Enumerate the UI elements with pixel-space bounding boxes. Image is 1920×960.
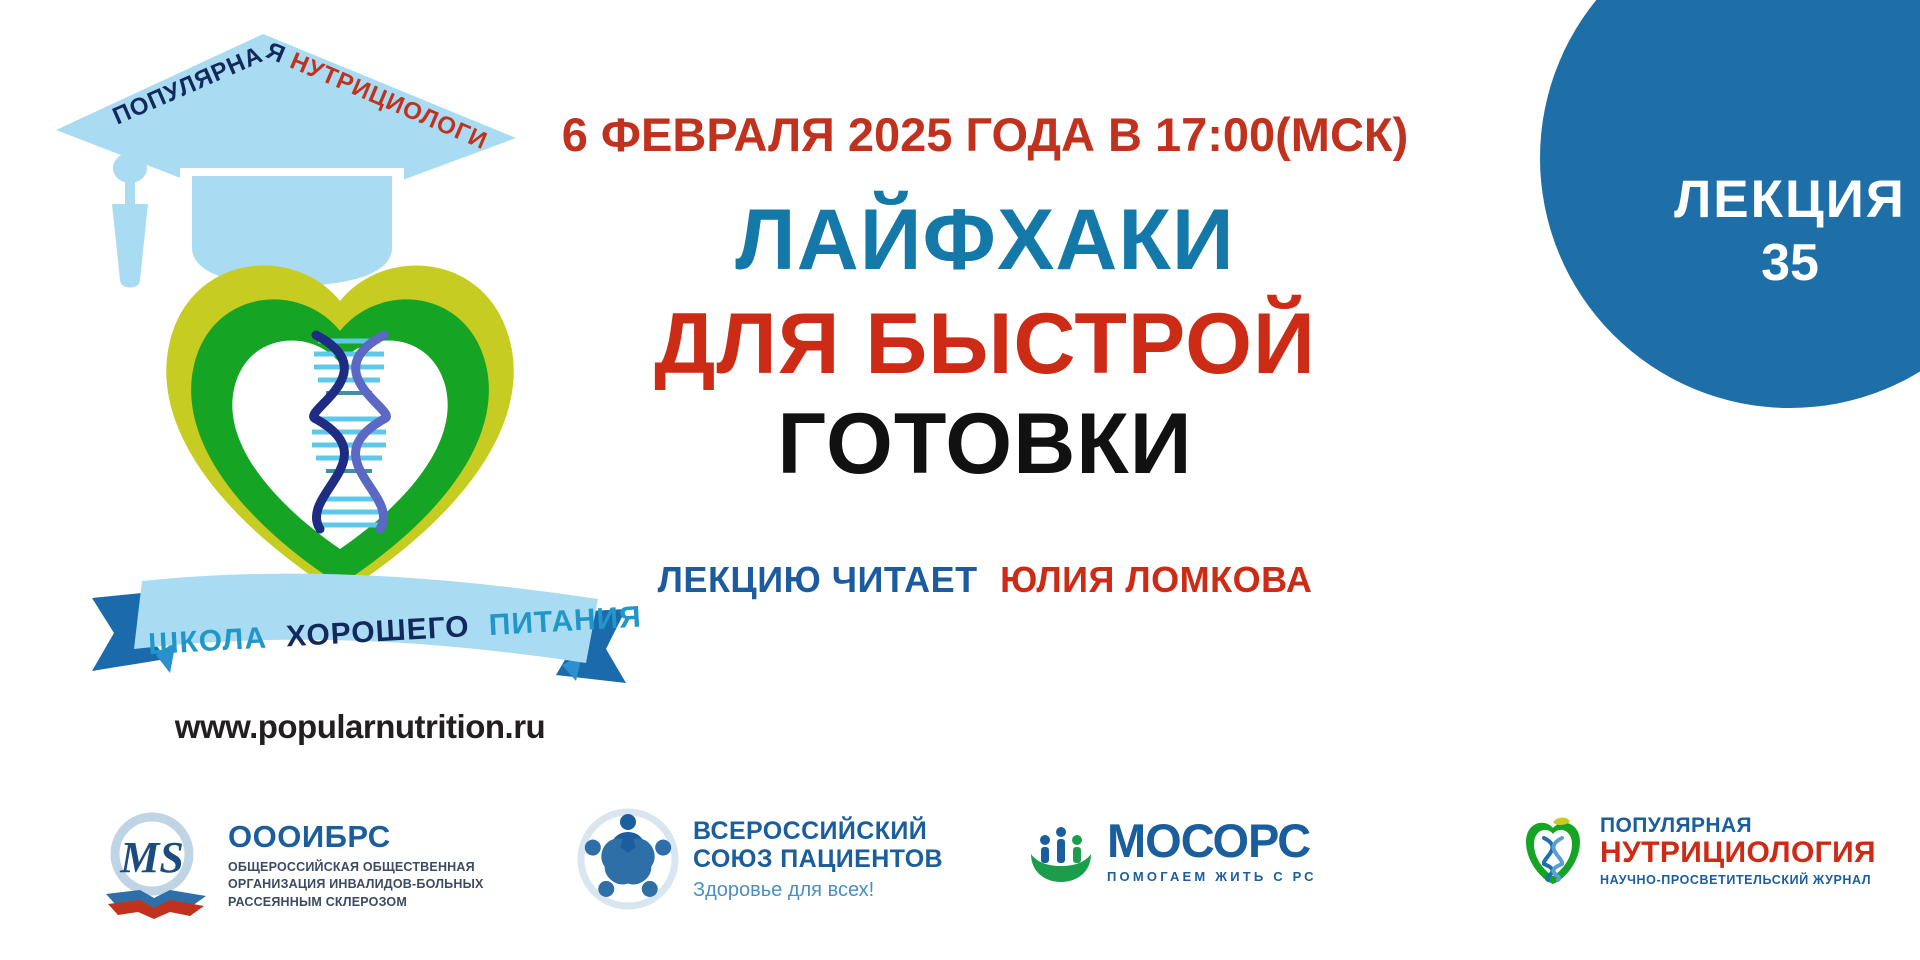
- partner-tagline: НАУЧНО-ПРОСВЕТИТЕЛЬСКИЙ ЖУРНАЛ: [1600, 873, 1876, 887]
- partner-name: МОСОРС: [1107, 817, 1317, 864]
- partner-logo-mosors: МОСОРС ПОМОГАЕМ ЖИТЬ С РС: [1025, 814, 1317, 886]
- speaker-line: ЛЕКЦИЮ ЧИТАЕТ ЮЛИЯ ЛОМКОВА: [480, 559, 1490, 601]
- partner-tagline: ПОМОГАЕМ ЖИТЬ С РС: [1107, 869, 1317, 884]
- partner-name-line-2: НУТРИЦИОЛОГИЯ: [1600, 837, 1876, 869]
- website-url[interactable]: www.popularnutrition.ru: [80, 708, 640, 746]
- people-circle-icon: [575, 806, 681, 912]
- ribbon-word-1: ШКОЛА: [147, 622, 267, 662]
- partner-name-line-2: СОЮЗ ПАЦИЕНТОВ: [693, 845, 943, 873]
- ms-emblem-icon: MS: [96, 810, 214, 922]
- hands-people-icon: [1025, 814, 1097, 886]
- partner-logo-oooibrs: MS ОООИБРС ОБЩЕРОССИЙСКАЯ ОБЩЕСТВЕННАЯ О…: [96, 810, 484, 922]
- partner-subtitle-line-3: РАССЕЯННЫМ СКЛЕРОЗОМ: [228, 894, 484, 911]
- title-line-3: ГОТОВКИ: [480, 401, 1490, 487]
- partner-tagline: Здоровье для всех!: [693, 879, 943, 902]
- partner-name-line-1: ВСЕРОССИЙСКИЙ: [693, 817, 943, 845]
- partner-logo-vsp: ВСЕРОССИЙСКИЙ СОЮЗ ПАЦИЕНТОВ Здоровье дл…: [575, 806, 943, 912]
- lecture-badge-label: ЛЕКЦИЯ: [1674, 172, 1906, 228]
- main-content: 6 ФЕВРАЛЯ 2025 ГОДА В 17:00(МСК) ЛАЙФХАК…: [480, 110, 1490, 601]
- apple-dna-icon: [1518, 814, 1588, 888]
- title-line-2: ДЛЯ БЫСТРОЙ: [480, 301, 1490, 387]
- lecture-badge-number: 35: [1761, 232, 1819, 294]
- speaker-name: ЮЛИЯ ЛОМКОВА: [1000, 559, 1312, 600]
- banner-canvas: ЛЕКЦИЯ 35: [0, 0, 1920, 960]
- partner-logos-strip: MS ОООИБРС ОБЩЕРОССИЙСКАЯ ОБЩЕСТВЕННАЯ О…: [0, 800, 1920, 950]
- partner-logo-popular-nutrition: ПОПУЛЯРНАЯ НУТРИЦИОЛОГИЯ НАУЧНО-ПРОСВЕТИ…: [1518, 814, 1876, 888]
- svg-text:MS: MS: [119, 833, 184, 882]
- title-line-1: ЛАЙФХАКИ: [480, 197, 1490, 283]
- partner-name-line-1: ПОПУЛЯРНАЯ: [1600, 815, 1876, 837]
- partner-subtitle-line-2: ОРГАНИЗАЦИЯ ИНВАЛИДОВ-БОЛЬНЫХ: [228, 876, 484, 893]
- partner-name: ОООИБРС: [228, 821, 484, 852]
- event-date-time: 6 ФЕВРАЛЯ 2025 ГОДА В 17:00(МСК): [480, 110, 1490, 159]
- speaker-prefix: ЛЕКЦИЮ ЧИТАЕТ: [658, 559, 978, 600]
- lecture-number-badge: ЛЕКЦИЯ 35: [1540, 0, 1920, 408]
- partner-subtitle-line-1: ОБЩЕРОССИЙСКАЯ ОБЩЕСТВЕННАЯ: [228, 859, 484, 876]
- partner-subtitle: ОБЩЕРОССИЙСКАЯ ОБЩЕСТВЕННАЯ ОРГАНИЗАЦИЯ …: [228, 859, 484, 911]
